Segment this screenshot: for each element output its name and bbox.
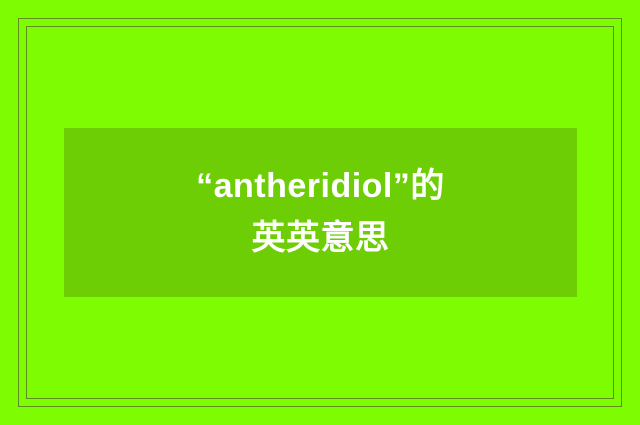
title-card: “antheridiol”的英英意思	[64, 128, 577, 297]
page-title: “antheridiol”的英英意思	[191, 161, 451, 264]
poster-canvas: “antheridiol”的英英意思	[0, 0, 640, 425]
